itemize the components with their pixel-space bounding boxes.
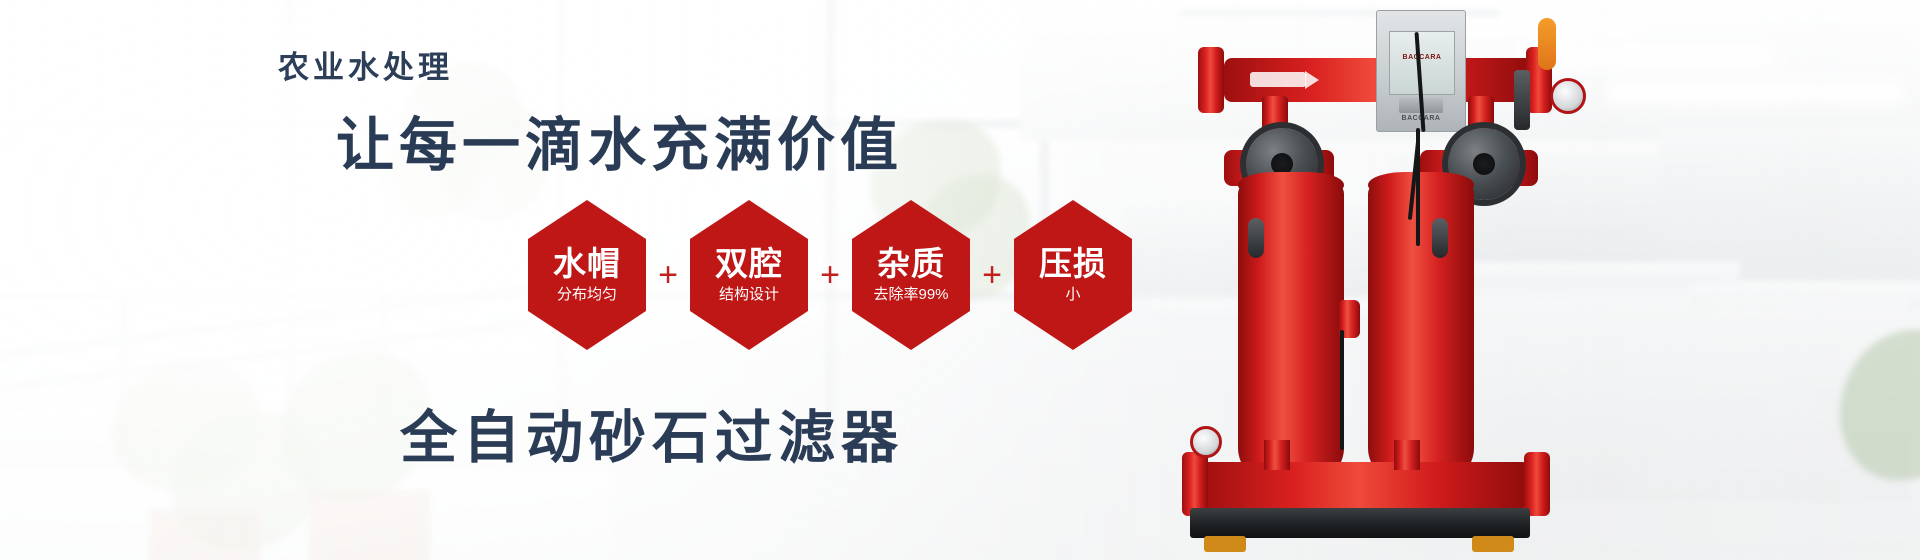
feature-badge-title: 双腔 xyxy=(715,247,783,282)
product-pressure-gauge-top xyxy=(1550,78,1586,114)
product-flange xyxy=(1524,452,1550,516)
feature-badge-subtitle: 结构设计 xyxy=(719,287,779,304)
feature-badge-subtitle: 分布均匀 xyxy=(557,287,617,304)
product-orange-handle xyxy=(1538,18,1556,70)
product-tank-right xyxy=(1368,182,1474,482)
banner-copy: 农业水处理 让每一滴水充满价值 水帽 分布均匀 + 双腔 结构设计 + 杂质 去… xyxy=(0,0,1250,560)
flow-arrow-icon xyxy=(1250,72,1306,87)
feature-badge-subtitle: 小 xyxy=(1065,287,1080,304)
product-title: 全自动砂石过滤器 xyxy=(400,392,904,474)
product-skid-foot xyxy=(1472,536,1514,552)
feature-badge-subtitle: 去除率99% xyxy=(873,287,948,304)
product-tank-dome-left xyxy=(1238,172,1344,198)
badge-separator-plus: + xyxy=(646,258,690,292)
feature-badge-title: 杂质 xyxy=(877,247,945,282)
product-clamp xyxy=(1432,218,1448,258)
feature-badge: 双腔 结构设计 xyxy=(690,200,808,350)
product-tank-dome-right xyxy=(1368,172,1474,198)
product-clamp xyxy=(1248,218,1264,258)
feature-badge-title: 水帽 xyxy=(553,247,621,282)
feature-badge: 压损 小 xyxy=(1014,200,1132,350)
badge-separator-plus: + xyxy=(808,258,852,292)
product-fitting xyxy=(1514,70,1530,130)
product-wiring xyxy=(1340,330,1344,450)
eyebrow-label: 农业水处理 xyxy=(278,42,453,87)
product-sand-filter-image: BACCARA BACCARA xyxy=(1180,0,1680,560)
feature-badge: 水帽 分布均匀 xyxy=(528,200,646,350)
promo-banner: BACCARA BACCARA xyxy=(0,0,1920,560)
feature-badge-title: 压损 xyxy=(1039,247,1107,282)
main-headline: 让每一滴水充满价值 xyxy=(336,98,903,182)
product-tank-outlet xyxy=(1394,440,1420,470)
badge-separator-plus: + xyxy=(970,258,1014,292)
feature-badge: 杂质 去除率99% xyxy=(852,200,970,350)
feature-badge-row: 水帽 分布均匀 + 双腔 结构设计 + 杂质 去除率99% + 压损 小 xyxy=(528,200,1132,350)
product-tank-outlet xyxy=(1264,440,1290,470)
